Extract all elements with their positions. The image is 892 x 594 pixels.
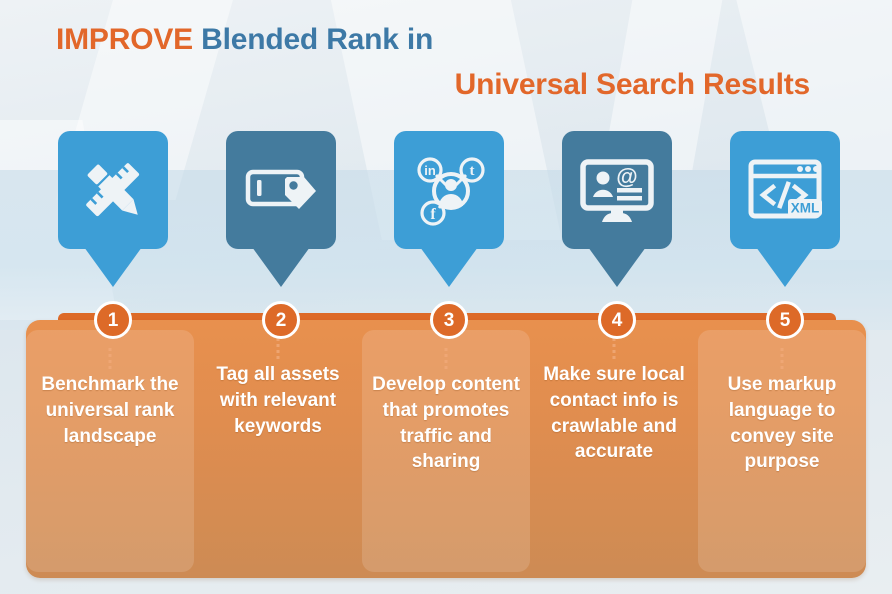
twitter-glyph: t: [470, 163, 475, 179]
pencil-ruler-icon: [76, 153, 150, 227]
facebook-glyph: f: [430, 206, 436, 223]
pin-tip-1: [84, 247, 142, 287]
pin-marker-2[interactable]: [226, 131, 336, 249]
pin-body-5: XML: [730, 131, 840, 249]
tag-label-icon: [243, 159, 319, 221]
pin-tip-3: [420, 247, 478, 287]
linkedin-glyph: in: [424, 163, 436, 178]
contact-monitor-icon: @: [578, 154, 656, 226]
xml-code-browser-icon: XML: [746, 157, 824, 223]
pin-body-1: [58, 131, 168, 249]
pin-marker-1[interactable]: [58, 131, 168, 249]
pin-marker-row: in t f @: [0, 0, 892, 300]
pin-body-2: [226, 131, 336, 249]
pin-body-3: in t f: [394, 131, 504, 249]
pin-tip-5: [756, 247, 814, 287]
step-badge-1[interactable]: 1: [94, 301, 132, 339]
step-badge-5[interactable]: 5: [766, 301, 804, 339]
pin-marker-4[interactable]: @: [562, 131, 672, 249]
step-badge-2[interactable]: 2: [262, 301, 300, 339]
social-network-icon: in t f: [409, 151, 489, 229]
pin-marker-3[interactable]: in t f: [394, 131, 504, 249]
pin-tip-4: [588, 247, 646, 287]
pin-body-4: @: [562, 131, 672, 249]
pin-tip-2: [252, 247, 310, 287]
email-at-glyph: @: [616, 164, 637, 189]
xml-badge-label: XML: [791, 201, 820, 216]
steps-panel: [26, 320, 866, 578]
pin-marker-5[interactable]: XML: [730, 131, 840, 249]
step-badge-4[interactable]: 4: [598, 301, 636, 339]
step-badge-3[interactable]: 3: [430, 301, 468, 339]
